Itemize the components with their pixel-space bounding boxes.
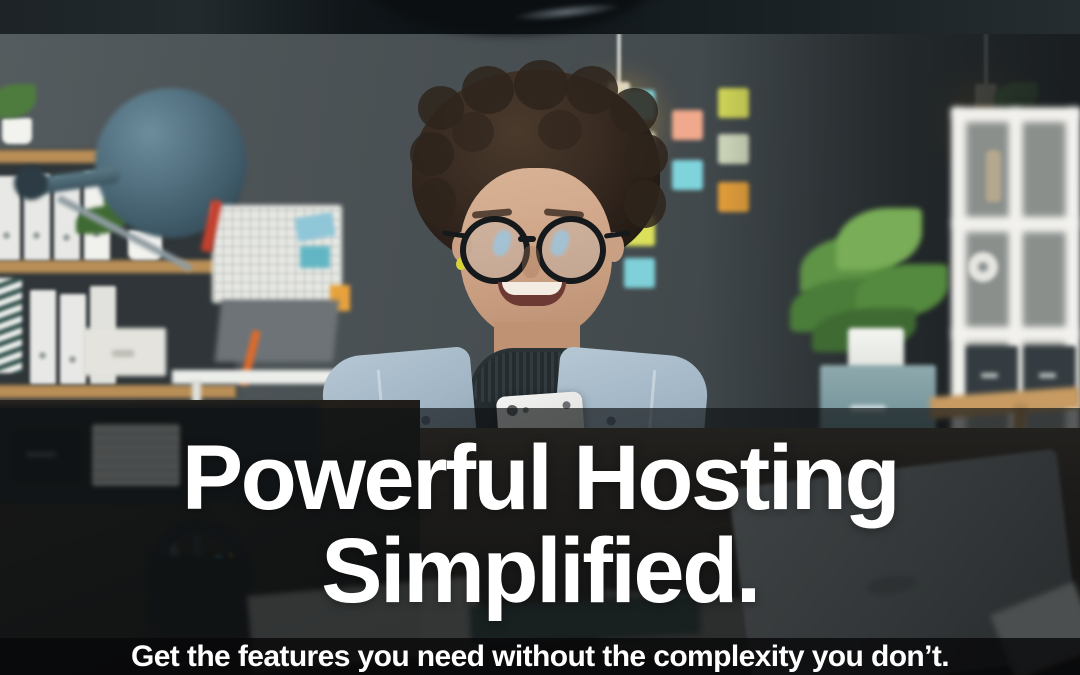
chevron-storage-box [0, 278, 22, 373]
hero-banner: Powerful Hosting Simplified. Get the fea… [0, 0, 1080, 675]
eyeglasses-lens [460, 216, 530, 284]
headline-line-2: Simplified. [0, 525, 1080, 618]
nose [522, 246, 540, 278]
headline-line-1: Powerful Hosting [0, 432, 1080, 525]
bottle [986, 150, 1001, 202]
eyeglasses-lens [536, 216, 606, 284]
white-storage-box [82, 328, 166, 376]
binder [30, 290, 56, 384]
headline: Powerful Hosting Simplified. [0, 432, 1080, 618]
plant-pot [2, 118, 32, 144]
subheadline: Get the features you need without the co… [0, 639, 1080, 675]
tape-roll [968, 252, 998, 282]
eyeglasses-bridge [518, 236, 536, 242]
foreground-top-band [0, 0, 1080, 34]
